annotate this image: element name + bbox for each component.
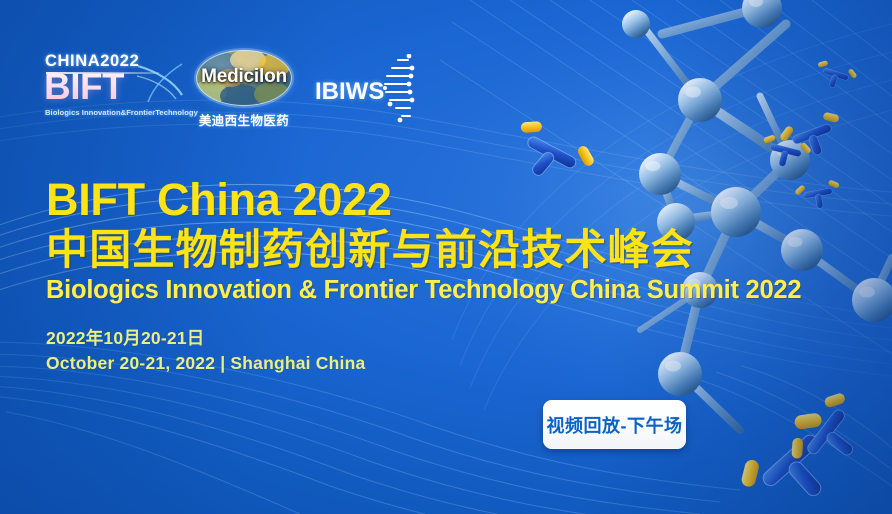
headline-block: BIFT China 2022 中国生物制药创新与前沿技术峰会 Biologic… — [46, 176, 846, 376]
page-title: BIFT China 2022 — [46, 176, 846, 224]
medicilon-wordmark: Medicilon — [190, 66, 298, 88]
bift-logo-tagline: Biologics Innovation&FrontierTechnology — [45, 108, 198, 117]
ibiws-wordmark: IBIWS — [315, 78, 384, 106]
event-dates: 2022年10月20-21日 October 20-21, 2022 | Sha… — [46, 326, 846, 376]
page-subtitle: Biologics Innovation & Frontier Technolo… — [46, 276, 846, 305]
medicilon-logo[interactable]: Medicilon 美迪西生物医药 — [190, 48, 298, 134]
medicilon-chinese-name: 美迪西生物医药 — [190, 110, 298, 129]
event-date-chinese: 2022年10月20-21日 — [46, 326, 846, 351]
event-banner: CHINA2022 BIFT Biologics Innovation&Fron… — [0, 0, 892, 514]
video-replay-button-label: 视频回放-下午场 — [547, 412, 683, 438]
video-replay-button[interactable]: 视频回放-下午场 — [543, 400, 686, 449]
dna-helix-icon — [378, 54, 418, 129]
bift-logo[interactable]: CHINA2022 BIFT Biologics Innovation&Fron… — [44, 48, 179, 132]
page-title-chinese: 中国生物制药创新与前沿技术峰会 — [46, 226, 846, 273]
ibiws-logo[interactable]: IBIWS — [315, 48, 420, 134]
swoosh-icon — [136, 62, 184, 111]
logo-bar: CHINA2022 BIFT Biologics Innovation&Fron… — [44, 48, 420, 134]
event-date-english: October 20-21, 2022 | Shanghai China — [46, 351, 846, 376]
bift-logo-wordmark: BIFT — [44, 68, 124, 105]
